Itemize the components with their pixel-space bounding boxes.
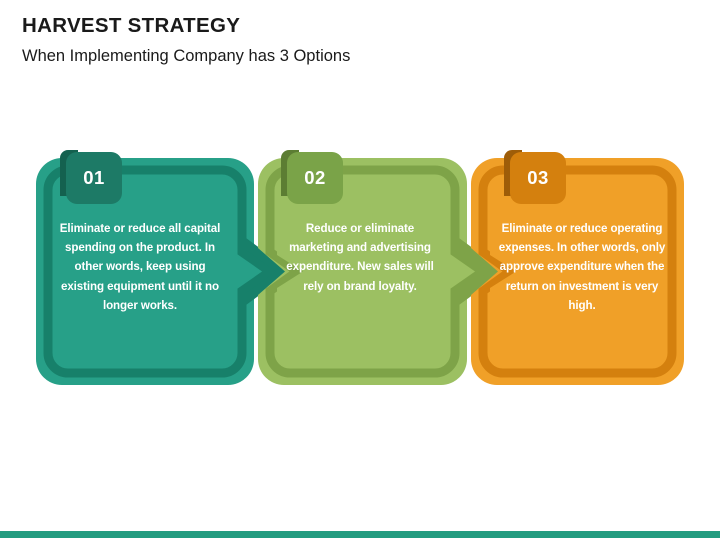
step-3-description: Eliminate or reduce operating expenses. … — [498, 219, 666, 315]
bottom-accent-bar — [0, 531, 720, 538]
step-1-description: Eliminate or reduce all capital spending… — [52, 219, 228, 315]
step-3-number: 03 — [511, 167, 565, 189]
step-2-description: Reduce or eliminate marketing and advert… — [281, 219, 439, 296]
step-1-number: 01 — [67, 167, 121, 189]
step-2-number: 02 — [288, 167, 342, 189]
